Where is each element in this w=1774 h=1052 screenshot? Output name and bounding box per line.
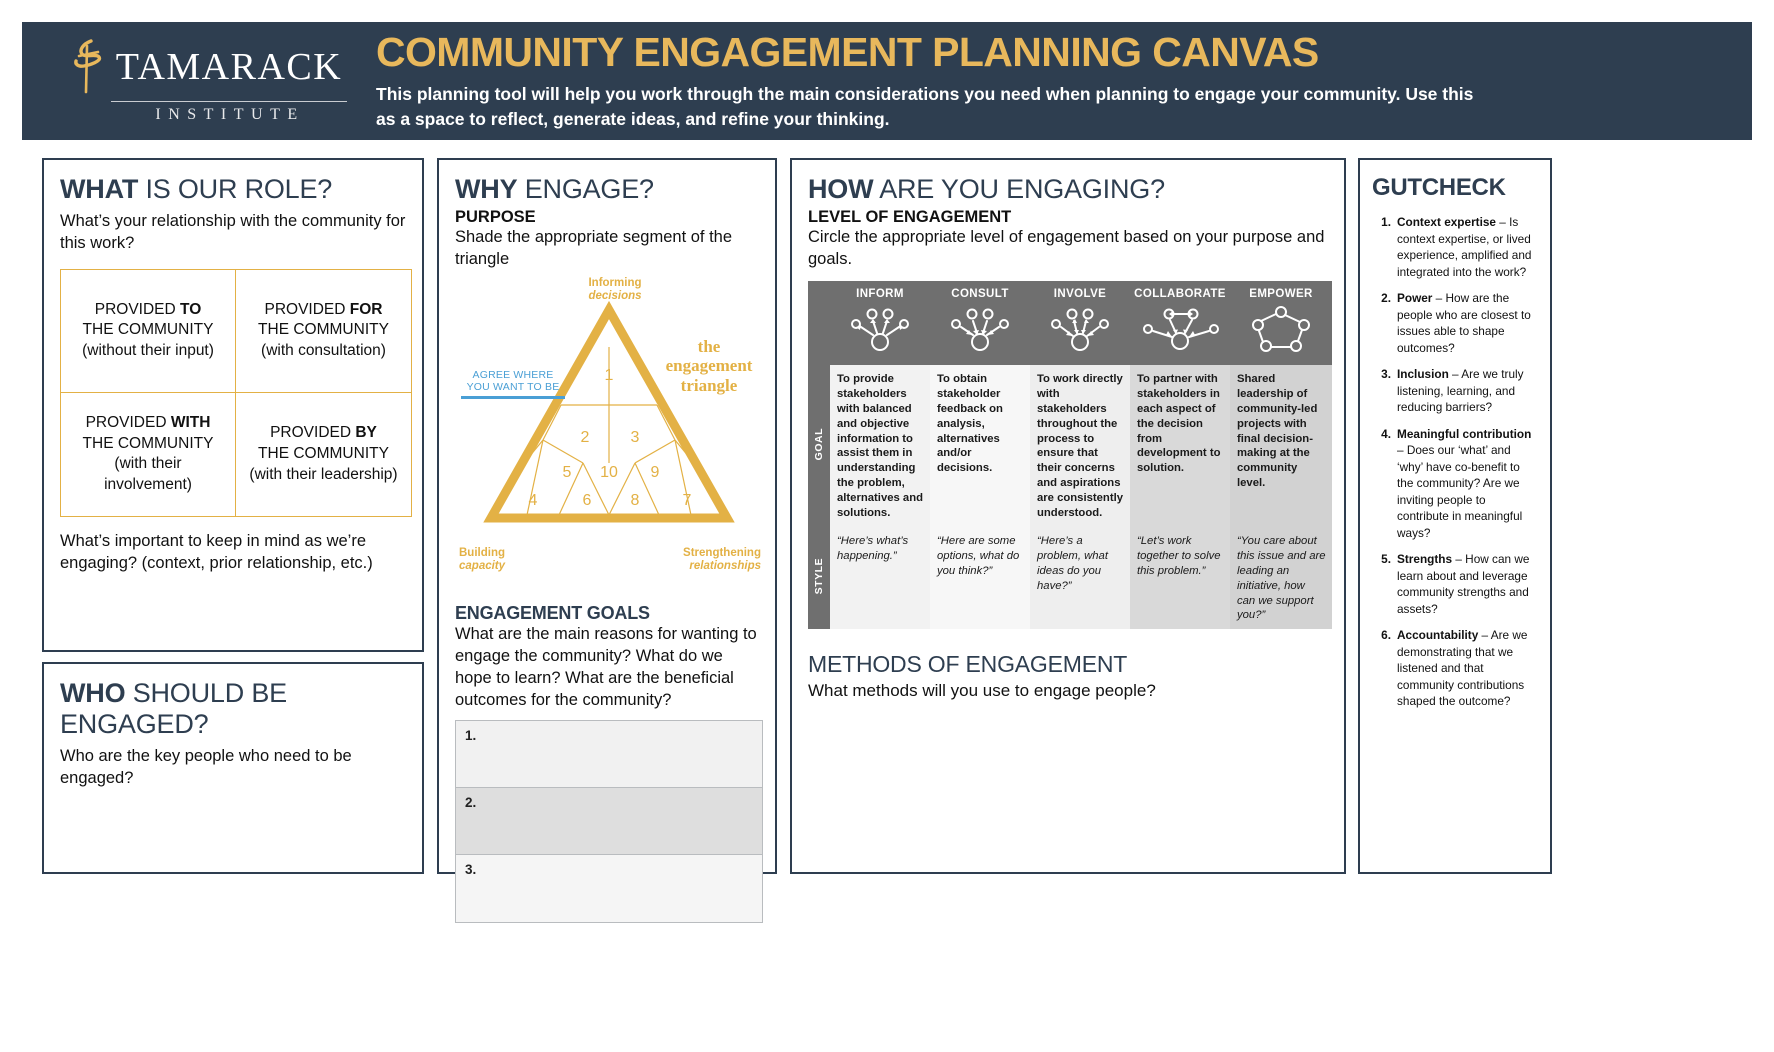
inbound-feedback-icon	[930, 302, 1030, 365]
level-of-engagement-table: INFORM CONSULT INVOLVE COLLABORATE EMPOW…	[808, 281, 1332, 630]
triangle-segment-10: 10	[600, 464, 618, 481]
role-label-line3: (with consultation)	[261, 342, 386, 359]
engagement-triangle-diagram[interactable]: 1 2 3 4 5 6 7 8 9 10	[455, 277, 763, 577]
why-heading: WHY ENGAGE?	[455, 174, 759, 205]
engagement-goals-heading: ENGAGEMENT GOALS	[455, 603, 759, 624]
who-writing-area[interactable]	[60, 790, 406, 900]
triangle-segment-1: 1	[605, 367, 614, 384]
bl-line1: Building	[459, 547, 505, 559]
goal-input-2[interactable]: 2.	[456, 788, 762, 855]
who-prompt: Who are the key people who need to be en…	[60, 746, 406, 790]
gutcheck-body: Power – How are the people who are close…	[1397, 290, 1538, 356]
triangle-brand-label: the engagement triangle	[657, 337, 761, 396]
gutcheck-number: 3.	[1374, 366, 1391, 416]
triangle-top-label-line2: decisions	[560, 290, 670, 304]
role-option-with[interactable]: PROVIDED WITH THE COMMUNITY (with their …	[61, 393, 236, 516]
methods-writing-area[interactable]	[808, 703, 1328, 903]
style-collaborate: “Let’s work together to solve this probl…	[1130, 527, 1230, 629]
engagement-goals-prompt: What are the main reasons for wanting to…	[455, 624, 759, 712]
gutcheck-number: 2.	[1374, 290, 1391, 356]
what-heading-rest: IS OUR ROLE?	[138, 174, 332, 204]
gutcheck-item-1: 1. Context expertise – Is context expert…	[1374, 214, 1538, 280]
brand-line1: the	[698, 337, 721, 356]
triangle-top-label-line1: Informing	[588, 277, 641, 289]
goal-input-3[interactable]: 3.	[456, 855, 762, 922]
gutcheck-number: 4.	[1374, 426, 1391, 542]
circle-network-icon	[1230, 302, 1332, 365]
role-label-pre: PROVIDED	[86, 414, 171, 431]
level-header-collaborate[interactable]: COLLABORATE	[1130, 281, 1230, 302]
table-icon-row	[808, 302, 1332, 365]
role-label-key: TO	[180, 301, 201, 318]
why-heading-bold: WHY	[455, 174, 517, 204]
methods-heading: METHODS OF ENGAGEMENT	[808, 651, 1328, 678]
role-label-pre: PROVIDED	[95, 301, 180, 318]
row-label-goal: GOAL	[808, 365, 830, 527]
how-heading: HOW ARE YOU ENGAGING?	[808, 174, 1328, 205]
panel-why-engage: WHY ENGAGE? PURPOSE Shade the appropriat…	[437, 158, 777, 874]
gutcheck-heading: GUTCHECK	[1372, 174, 1538, 202]
role-label-key: BY	[355, 424, 377, 441]
gutcheck-item-4: 4. Meaningful contribution – Does our ‘w…	[1374, 426, 1538, 542]
gutcheck-term: Power	[1397, 291, 1432, 305]
purpose-prompt: Shade the appropriate segment of the tri…	[455, 227, 759, 271]
logo-subtext: INSTITUTE	[155, 106, 304, 124]
triangle-bottom-left-label: Building capacity	[459, 547, 505, 574]
header-corner	[808, 281, 830, 302]
style-empower: “You care about this issue and are leadi…	[1230, 527, 1332, 629]
agree-where-label: AGREE WHERE YOU WANT TO BE	[461, 369, 565, 394]
gutcheck-body: Context expertise – Is context expertise…	[1397, 214, 1538, 280]
goal-collaborate: To partner with stakeholders in each asp…	[1130, 365, 1230, 527]
br-line1: Strengthening	[683, 547, 761, 559]
gutcheck-number: 6.	[1374, 627, 1391, 710]
brand-line3: triangle	[681, 376, 738, 395]
role-grid: PROVIDED TO THE COMMUNITY (without their…	[60, 269, 412, 517]
gutcheck-item-5: 5. Strengths – How can we learn about an…	[1374, 551, 1538, 617]
goal-consult: To obtain stakeholder feedback on analys…	[930, 365, 1030, 527]
page-header: TAMARACK INSTITUTE COMMUNITY ENGAGEMENT …	[22, 22, 1752, 140]
brand-line2: engagement	[666, 356, 753, 375]
gutcheck-item-2: 2. Power – How are the people who are cl…	[1374, 290, 1538, 356]
what-note-prompt: What’s important to keep in mind as we’r…	[60, 531, 406, 575]
role-label-pre: PROVIDED	[270, 424, 355, 441]
row-label-goal-text: GOAL	[813, 428, 825, 460]
triangle-segment-9: 9	[651, 464, 660, 481]
gutcheck-body: Inclusion – Are we truly listening, lear…	[1397, 366, 1538, 416]
role-label-line2: THE COMMUNITY	[83, 321, 214, 338]
panel-gutcheck: GUTCHECK 1. Context expertise – Is conte…	[1358, 158, 1552, 874]
purpose-subheading: PURPOSE	[455, 208, 759, 227]
gutcheck-term: Strengths	[1397, 552, 1452, 566]
gutcheck-number: 5.	[1374, 551, 1391, 617]
gutcheck-term: Inclusion	[1397, 367, 1449, 381]
goal-empower: Shared leadership of community-led proje…	[1230, 365, 1332, 527]
icon-row-corner	[808, 302, 830, 365]
triangle-segment-8: 8	[631, 492, 640, 509]
triangle-segment-2: 2	[581, 429, 590, 446]
goal-input-1[interactable]: 1.	[456, 721, 762, 788]
role-label-pre: PROVIDED	[265, 301, 350, 318]
role-option-to[interactable]: PROVIDED TO THE COMMUNITY (without their…	[61, 270, 236, 393]
role-label-key: FOR	[350, 301, 383, 318]
how-heading-bold: HOW	[808, 174, 873, 204]
level-header-consult[interactable]: CONSULT	[930, 281, 1030, 302]
page-subtitle: This planning tool will help you work th…	[376, 82, 1496, 132]
logo-wordmark: TAMARACK	[116, 48, 342, 86]
gutcheck-item-6: 6. Accountability – Are we demonstrating…	[1374, 627, 1538, 710]
bl-line2: capacity	[459, 560, 505, 574]
gutcheck-body: Meaningful contribution – Does our ‘what…	[1397, 426, 1538, 542]
gutcheck-item-3: 3. Inclusion – Are we truly listening, l…	[1374, 366, 1538, 416]
role-label-line3: (without their input)	[82, 342, 214, 359]
agree-label-line1: AGREE WHERE	[473, 369, 554, 381]
level-of-engagement-heading: LEVEL OF ENGAGEMENT	[808, 208, 1328, 227]
engagement-triangle: 1 2 3 4 5 6 7 8 9 10 Informing decisions…	[455, 277, 763, 577]
triangle-top-label: Informing decisions	[560, 277, 670, 304]
why-heading-rest: ENGAGE?	[517, 174, 653, 204]
who-heading: WHO SHOULD BE ENGAGED?	[60, 678, 406, 740]
gutcheck-term: Meaningful contribution	[1397, 427, 1531, 441]
what-heading-bold: WHAT	[60, 174, 138, 204]
style-inform: “Here’s what’s happening.”	[830, 527, 930, 629]
row-label-style-text: STYLE	[813, 558, 825, 594]
peer-network-icon	[1130, 302, 1230, 365]
goal-inform: To provide stakeholders with balanced an…	[830, 365, 930, 527]
triangle-bottom-right-label: Strengthening relationships	[683, 547, 761, 574]
what-prompt: What’s your relationship with the commun…	[60, 211, 406, 255]
role-label-line3: (with their leadership)	[249, 466, 397, 483]
gutcheck-body: Strengths – How can we learn about and l…	[1397, 551, 1538, 617]
table-header-row: INFORM CONSULT INVOLVE COLLABORATE EMPOW…	[808, 281, 1332, 302]
table-style-row: STYLE “Here’s what’s happening.” “Here a…	[808, 527, 1332, 629]
level-header-empower[interactable]: EMPOWER	[1230, 281, 1332, 302]
how-heading-rest: ARE YOU ENGAGING?	[873, 174, 1165, 204]
br-line2: relationships	[683, 560, 761, 574]
tamarack-mark-icon	[70, 38, 110, 96]
gutcheck-number: 1.	[1374, 214, 1391, 280]
gutcheck-term: Accountability	[1397, 628, 1478, 642]
level-header-inform[interactable]: INFORM	[830, 281, 930, 302]
triangle-segment-7: 7	[683, 492, 692, 509]
engagement-goals-list: 1. 2. 3.	[455, 720, 763, 923]
style-consult: “Here are some options, what do you thin…	[930, 527, 1030, 629]
gutcheck-desc: – Does our ‘what’ and ‘why’ have co-bene…	[1397, 443, 1522, 540]
role-label-key: WITH	[171, 414, 211, 431]
table-goal-row: GOAL To provide stakeholders with balanc…	[808, 365, 1332, 527]
canvas-page: TAMARACK INSTITUTE COMMUNITY ENGAGEMENT …	[0, 0, 1774, 1052]
two-way-network-icon	[1030, 302, 1130, 365]
triangle-segment-3: 3	[631, 429, 640, 446]
triangle-segment-6: 6	[583, 492, 592, 509]
role-label-line3: (with their involvement)	[104, 455, 192, 493]
what-heading: WHAT IS OUR ROLE?	[60, 174, 406, 205]
triangle-segment-4: 4	[529, 492, 538, 509]
panel-what-is-our-role: WHAT IS OUR ROLE? What’s your relationsh…	[42, 158, 424, 652]
panel-how-are-you-engaging: HOW ARE YOU ENGAGING? LEVEL OF ENGAGEMEN…	[790, 158, 1346, 874]
role-label-line2: THE COMMUNITY	[83, 435, 214, 452]
role-label-line2: THE COMMUNITY	[258, 321, 389, 338]
methods-prompt: What methods will you use to engage peop…	[808, 680, 1328, 703]
page-title: COMMUNITY ENGAGEMENT PLANNING CANVAS	[376, 31, 1732, 74]
broadcast-network-icon	[830, 302, 930, 365]
who-heading-bold: WHO	[60, 678, 125, 708]
role-option-for[interactable]: PROVIDED FOR THE COMMUNITY (with consult…	[236, 270, 411, 393]
level-of-engagement-prompt: Circle the appropriate level of engageme…	[808, 227, 1328, 271]
gutcheck-list: 1. Context expertise – Is context expert…	[1372, 214, 1538, 710]
goal-involve: To work directly with stakeholders throu…	[1030, 365, 1130, 527]
panel-who-should-be-engaged: WHO SHOULD BE ENGAGED? Who are the key p…	[42, 662, 424, 874]
row-label-style: STYLE	[808, 527, 830, 629]
level-header-involve[interactable]: INVOLVE	[1030, 281, 1130, 302]
role-option-by[interactable]: PROVIDED BY THE COMMUNITY (with their le…	[236, 393, 411, 516]
style-involve: “Here’s a problem, what ideas do you hav…	[1030, 527, 1130, 629]
gutcheck-term: Context expertise	[1397, 215, 1496, 229]
logo-divider	[111, 101, 347, 102]
agree-label-line2: YOU WANT TO BE	[467, 381, 560, 393]
role-label-line2: THE COMMUNITY	[258, 445, 389, 462]
tamarack-logo: TAMARACK INSTITUTE	[22, 22, 362, 140]
agree-underline	[461, 396, 565, 399]
gutcheck-body: Accountability – Are we demonstrating th…	[1397, 627, 1538, 710]
triangle-segment-5: 5	[563, 464, 572, 481]
